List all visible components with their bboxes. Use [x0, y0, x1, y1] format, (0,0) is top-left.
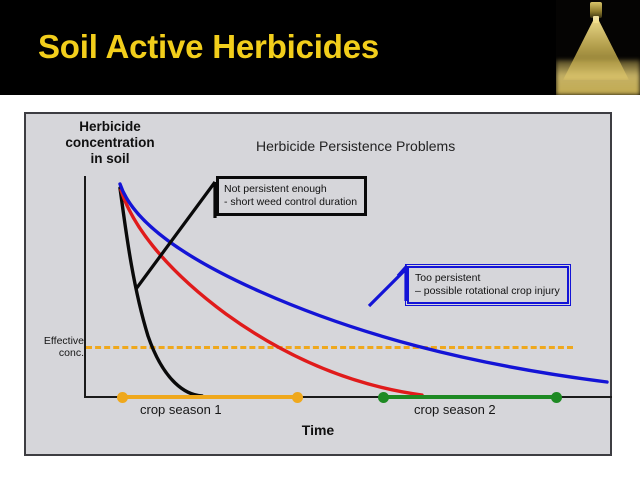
too-persistent-line-1: Too persistent — [415, 272, 560, 285]
crop-season-2-start-dot — [378, 392, 389, 403]
too-persistent-callout-box[interactable]: Too persistent – possible rotational cro… — [407, 266, 569, 304]
x-axis-label: Time — [26, 422, 610, 438]
crop-season-2-label: crop season 2 — [414, 402, 496, 417]
slide-title: Soil Active Herbicides — [38, 28, 379, 66]
too-persistent-line-2: – possible rotational crop injury — [415, 285, 560, 298]
not-persistent-line-2: - short weed control duration — [224, 196, 357, 209]
slide-header-band: Soil Active Herbicides — [0, 0, 640, 95]
curve-intermediate — [121, 190, 422, 395]
crop-season-1-start-dot — [117, 392, 128, 403]
crop-season-1-end-dot — [292, 392, 303, 403]
spray-mist-shape — [556, 60, 640, 95]
crop-season-1-label: crop season 1 — [140, 402, 222, 417]
spray-nozzle-photo — [556, 0, 640, 95]
crop-season-2-bar — [383, 395, 557, 399]
crop-season-2-end-dot — [551, 392, 562, 403]
crop-season-1-bar — [122, 395, 298, 399]
not-persistent-line-1: Not persistent enough — [224, 183, 357, 196]
not-persistent-callout-box[interactable]: Not persistent enough - short weed contr… — [216, 176, 367, 216]
slide-root: Soil Active Herbicides Herbicide concent… — [0, 0, 640, 480]
chart-panel: Herbicide concentration in soil Herbicid… — [24, 112, 612, 456]
